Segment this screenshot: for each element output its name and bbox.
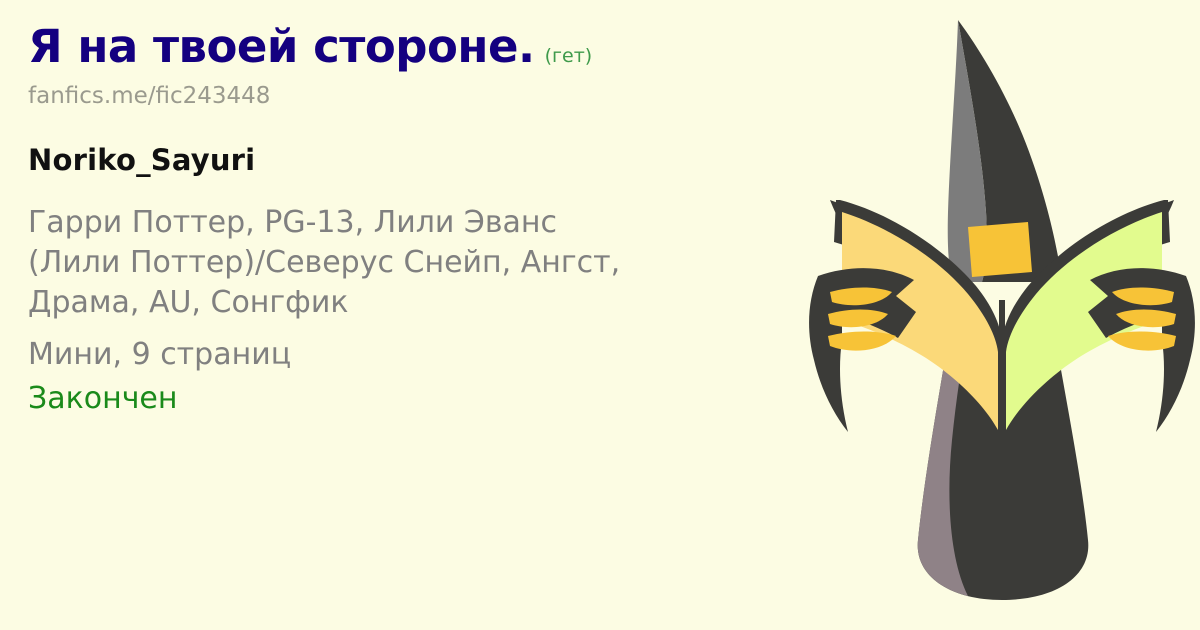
fic-tags-line-1: Гарри Поттер, PG-13, Лили Эванс bbox=[28, 203, 828, 243]
fanfic-preview-card: Я на твоей стороне.(гет) fanfics.me/fic2… bbox=[0, 0, 1200, 630]
witch-hat-buckle bbox=[968, 222, 1032, 277]
fic-size: Мини, 9 страниц bbox=[28, 335, 828, 375]
witch-finger-right-3 bbox=[1108, 332, 1176, 351]
text-column: Я на твоей стороне.(гет) fanfics.me/fic2… bbox=[28, 24, 828, 419]
witch-illustration-svg bbox=[800, 0, 1200, 630]
title-row: Я на твоей стороне.(гет) bbox=[28, 24, 828, 69]
page-title: Я на твоей стороне. bbox=[28, 20, 535, 73]
fic-tags: Гарри Поттер, PG-13, Лили Эванс (Лили По… bbox=[28, 203, 828, 323]
fic-tags-line-3: Драма, AU, Сонгфик bbox=[28, 283, 828, 323]
book-spine bbox=[999, 300, 1005, 436]
witch-reading-book-illustration bbox=[800, 0, 1200, 630]
category-badge: (гет) bbox=[545, 45, 593, 67]
fic-tags-line-2: (Лили Поттер)/Северус Снейп, Ангст, bbox=[28, 243, 828, 283]
status-badge: Закончен bbox=[28, 379, 828, 419]
witch-finger-left-3 bbox=[828, 332, 896, 351]
author-name[interactable]: Noriko_Sayuri bbox=[28, 143, 828, 177]
fic-url[interactable]: fanfics.me/fic243448 bbox=[28, 83, 828, 109]
